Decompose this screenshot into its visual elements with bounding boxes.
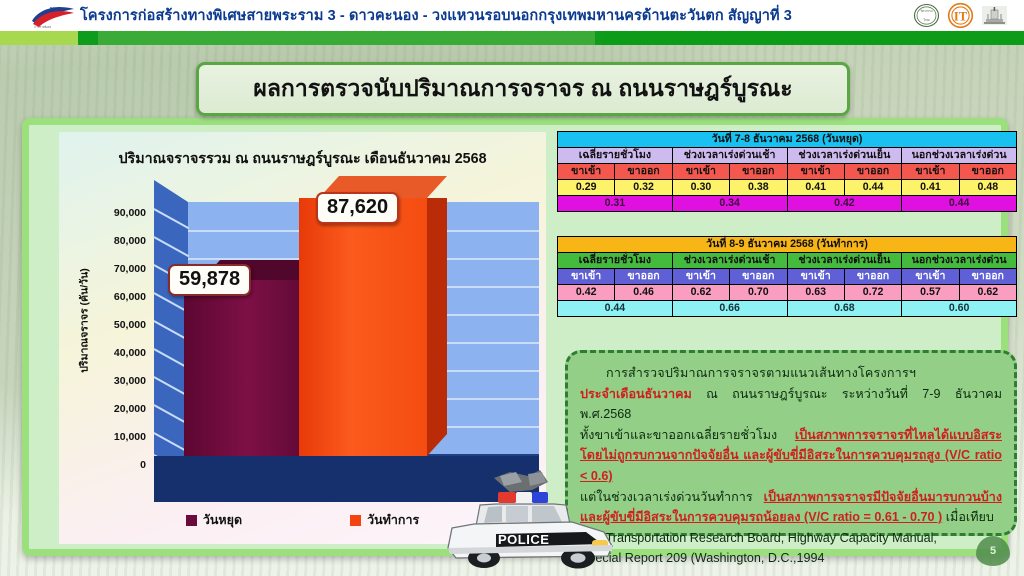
table-row: เฉลี่ยรายชั่วโมง ช่วงเวลาเร่งด่วนเช้า ช่… <box>558 253 1017 269</box>
table-total-cell: 0.44 <box>558 301 673 317</box>
table-row: วันที่ 8-9 ธันวาคม 2568 (วันทำการ) <box>558 237 1017 253</box>
holiday-table-wrap: วันที่ 7-8 ธันวาคม 2568 (วันหยุด) เฉลี่ย… <box>557 131 1017 212</box>
bar-value-label-workday: 87,620 <box>316 192 399 224</box>
group-header: เฉลี่ยรายชั่วโมง <box>558 253 673 269</box>
table-cell: 0.32 <box>615 180 672 196</box>
legend-label-holiday: วันหยุด <box>203 510 242 530</box>
table-cell: 0.63 <box>787 285 844 301</box>
table-row: 0.29 0.32 0.30 0.38 0.41 0.44 0.41 0.48 <box>558 180 1017 196</box>
table-cell: 0.48 <box>959 180 1016 196</box>
group-header: ช่วงเวลาเร่งด่วนเช้า <box>672 148 787 164</box>
direction-header: ขาเข้า <box>558 269 615 285</box>
svg-text:EXAT: EXAT <box>50 6 61 11</box>
y-tick: 70,000 <box>86 264 146 274</box>
y-tick: 90,000 <box>86 208 146 218</box>
header-green-band <box>0 31 1024 45</box>
table-cell: 0.62 <box>959 285 1016 301</box>
table-header-title: วันที่ 7-8 ธันวาคม 2568 (วันหยุด) <box>558 132 1017 148</box>
bar-front-face <box>184 280 299 456</box>
note-line-2-red: ประจำเดือนธันวาคม <box>580 387 692 401</box>
table-row: 0.31 0.34 0.42 0.44 <box>558 196 1017 212</box>
workday-table-wrap: วันที่ 8-9 ธันวาคม 2568 (วันทำการ) เฉลี่… <box>557 236 1017 317</box>
project-title: โครงการก่อสร้างทางพิเศษสายพระราม 3 - ดาว… <box>80 4 792 27</box>
legend-swatch-holiday <box>186 515 197 526</box>
direction-header: ขาเข้า <box>672 269 729 285</box>
table-total-cell: 0.68 <box>787 301 902 317</box>
table-total-cell: 0.42 <box>787 196 902 212</box>
police-car-icon: POLICE <box>436 448 624 570</box>
direction-header: ขาออก <box>959 269 1016 285</box>
svg-text:การทางพิเศษ: การทางพิเศษ <box>34 25 51 29</box>
direction-header: ขาเข้า <box>902 164 959 180</box>
plot-left-wall <box>154 180 188 502</box>
direction-header: ขาเข้า <box>558 164 615 180</box>
page-number-text: 5 <box>990 545 996 557</box>
bar-side-face <box>427 198 447 456</box>
table-cell: 0.42 <box>558 285 615 301</box>
table-cell: 0.30 <box>672 180 729 196</box>
slide-root: EXAT การทางพิเศษ โครงการก่อสร้างทางพิเศษ… <box>0 0 1024 576</box>
note-line-1: การสำรวจปริมาณการจราจรตามแนวเส้นทางโครงก… <box>580 366 916 380</box>
note-line-4-tail: เมื่อเทียบ <box>942 510 994 524</box>
holiday-table: วันที่ 7-8 ธันวาคม 2568 (วันหยุด) เฉลี่ย… <box>557 131 1017 212</box>
summary-note-box: การสำรวจปริมาณการจราจรตามแนวเส้นทางโครงก… <box>565 350 1017 536</box>
group-header: นอกช่วงเวลาเร่งด่วน <box>902 253 1017 269</box>
table-total-cell: 0.44 <box>902 196 1017 212</box>
bar-workday[interactable] <box>299 198 427 456</box>
direction-header: ขาออก <box>730 164 787 180</box>
note-paragraph: การสำรวจปริมาณการจราจรตามแนวเส้นทางโครงก… <box>580 363 1002 569</box>
legend-swatch-workday <box>350 515 361 526</box>
table-cell: 0.41 <box>787 180 844 196</box>
group-header: นอกช่วงเวลาเร่งด่วน <box>902 148 1017 164</box>
table-row: เฉลี่ยรายชั่วโมง ช่วงเวลาเร่งด่วนเช้า ช่… <box>558 148 1017 164</box>
table-cell: 0.57 <box>902 285 959 301</box>
bar-holiday[interactable] <box>184 280 299 456</box>
bar-value-label-holiday: 59,878 <box>168 264 251 296</box>
group-header: ช่วงเวลาเร่งด่วนเย็น <box>787 253 902 269</box>
svg-text:IT: IT <box>954 10 968 24</box>
bar-front-face <box>299 198 427 456</box>
band-segment-2 <box>98 31 595 45</box>
table-row: ขาเข้า ขาออก ขาเข้า ขาออก ขาเข้า ขาออก ข… <box>558 269 1017 285</box>
legend-item-workday[interactable]: วันทำการ <box>350 510 419 530</box>
table-total-cell: 0.66 <box>672 301 787 317</box>
table-row: วันที่ 7-8 ธันวาคม 2568 (วันหยุด) <box>558 132 1017 148</box>
legend-label-workday: วันทำการ <box>367 510 419 530</box>
table-cell: 0.72 <box>844 285 901 301</box>
header-badge-group: วิศวกรรม ไทย IT <box>913 2 1008 29</box>
direction-header: ขาออก <box>615 164 672 180</box>
seal-badge-left-icon: วิศวกรรม ไทย <box>913 2 940 29</box>
note-line-5: จาก Transportation Research Board, Highw… <box>580 531 937 545</box>
monument-badge-icon <box>981 2 1008 29</box>
y-tick: 0 <box>86 460 146 470</box>
y-tick: 80,000 <box>86 236 146 246</box>
table-cell: 0.62 <box>672 285 729 301</box>
table-row: ขาเข้า ขาออก ขาเข้า ขาออก ขาเข้า ขาออก ข… <box>558 164 1017 180</box>
table-cell: 0.70 <box>730 285 787 301</box>
header-bar: EXAT การทางพิเศษ โครงการก่อสร้างทางพิเศษ… <box>0 0 1024 31</box>
chart-y-axis-ticks: 90,000 80,000 70,000 60,000 50,000 40,00… <box>84 132 146 544</box>
table-row: 0.42 0.46 0.62 0.70 0.63 0.72 0.57 0.62 <box>558 285 1017 301</box>
police-text: POLICE <box>498 532 549 547</box>
y-tick: 30,000 <box>86 376 146 386</box>
table-cell: 0.44 <box>844 180 901 196</box>
table-cell: 0.38 <box>730 180 787 196</box>
band-segment-1 <box>0 31 78 45</box>
table-total-cell: 0.34 <box>672 196 787 212</box>
direction-header: ขาเข้า <box>787 164 844 180</box>
group-header: ช่วงเวลาเร่งด่วนเย็น <box>787 148 902 164</box>
y-tick: 10,000 <box>86 432 146 442</box>
direction-header: ขาออก <box>844 164 901 180</box>
table-cell: 0.29 <box>558 180 615 196</box>
band-segment-3 <box>603 31 1024 45</box>
note-line-3-black: ทั้งขาเข้าและขาออกเฉลี่ยรายชั่วโมง <box>580 428 795 442</box>
y-tick: 50,000 <box>86 320 146 330</box>
direction-header: ขาออก <box>844 269 901 285</box>
group-header: ช่วงเวลาเร่งด่วนเช้า <box>672 253 787 269</box>
direction-header: ขาเข้า <box>787 269 844 285</box>
direction-header: ขาเข้า <box>672 164 729 180</box>
slide-title-box: ผลการตรวจนับปริมาณการจราจร ณ ถนนราษฎร์บู… <box>196 62 850 116</box>
table-header-title: วันที่ 8-9 ธันวาคม 2568 (วันทำการ) <box>558 237 1017 253</box>
table-total-cell: 0.60 <box>902 301 1017 317</box>
svg-text:ไทย: ไทย <box>923 18 930 22</box>
direction-header: ขาออก <box>615 269 672 285</box>
y-tick: 20,000 <box>86 404 146 414</box>
direction-header: ขาออก <box>730 269 787 285</box>
table-cell: 0.46 <box>615 285 672 301</box>
svg-text:วิศวกรรม: วิศวกรรม <box>920 9 933 13</box>
exat-logo-icon: EXAT การทางพิเศษ <box>30 3 76 29</box>
page-number: 5 <box>976 536 1010 566</box>
table-cell: 0.41 <box>902 180 959 196</box>
y-tick: 40,000 <box>86 348 146 358</box>
slide-title: ผลการตรวจนับปริมาณการจราจร ณ ถนนราษฎร์บู… <box>253 71 792 107</box>
y-tick: 60,000 <box>86 292 146 302</box>
table-total-cell: 0.31 <box>558 196 673 212</box>
workday-table: วันที่ 8-9 ธันวาคม 2568 (วันทำการ) เฉลี่… <box>557 236 1017 317</box>
direction-header: ขาเข้า <box>902 269 959 285</box>
it-circle-badge-icon: IT <box>947 2 974 29</box>
table-row: 0.44 0.66 0.68 0.60 <box>558 301 1017 317</box>
legend-item-holiday[interactable]: วันหยุด <box>186 510 242 530</box>
direction-header: ขาออก <box>959 164 1016 180</box>
group-header: เฉลี่ยรายชั่วโมง <box>558 148 673 164</box>
